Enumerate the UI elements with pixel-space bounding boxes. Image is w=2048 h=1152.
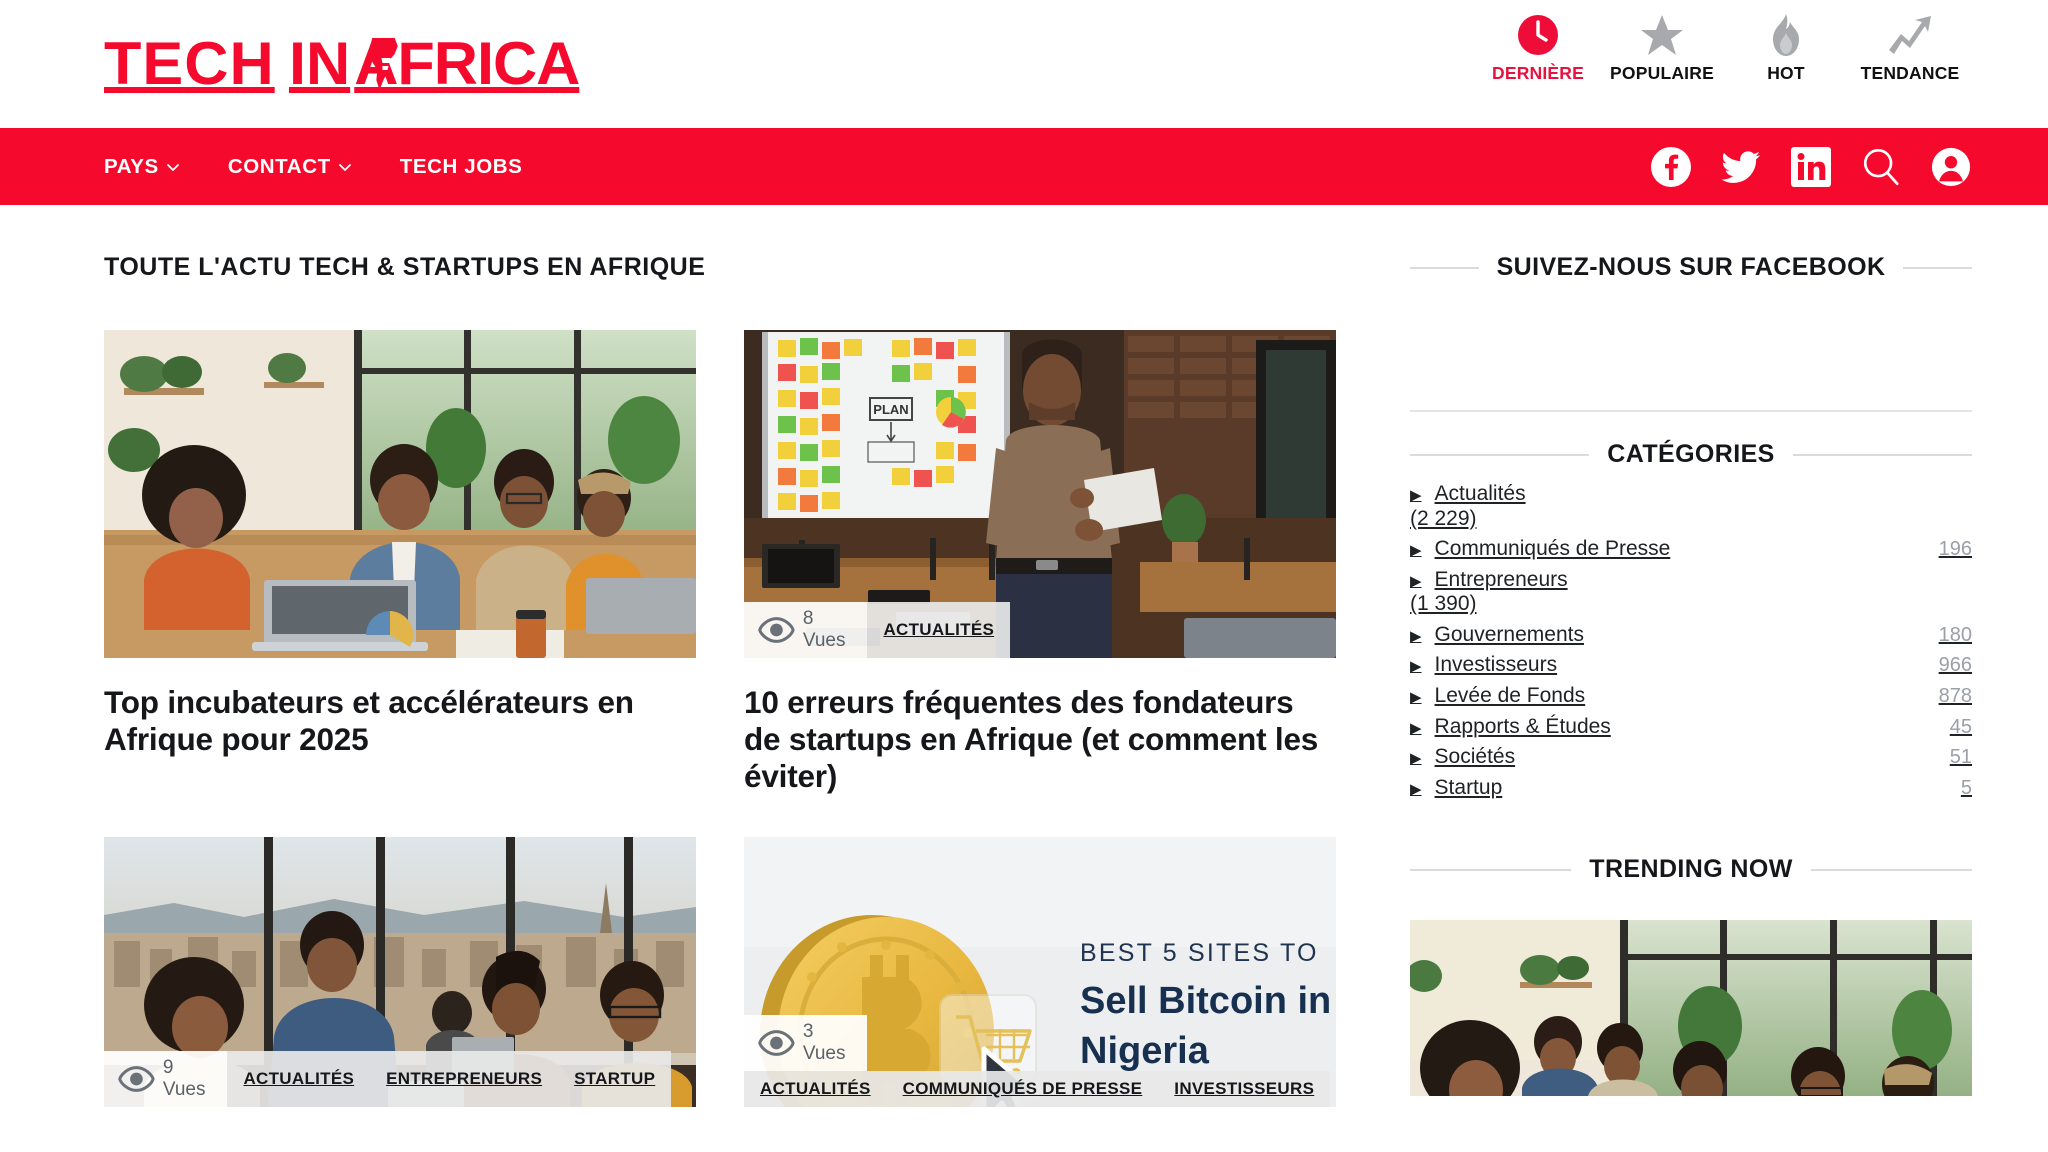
article-card[interactable]: PLAN [744, 330, 1336, 795]
divider-right [1903, 267, 1972, 269]
category-count: 180 [1939, 624, 1972, 647]
twitter-icon[interactable] [1720, 146, 1762, 188]
logo-text-africa: AFRICA [354, 30, 579, 97]
nav-actions [1650, 146, 1972, 188]
article-title[interactable]: Top incubateurs et accélérateurs en Afri… [104, 684, 696, 758]
category-count: 966 [1939, 654, 1972, 677]
view-count-label: 9 Vues [163, 1057, 206, 1101]
widget-facebook: SUIVEZ-NOUS SUR FACEBOOK [1410, 253, 1972, 410]
category-count: 196 [1939, 538, 1972, 561]
chevron-down-icon [166, 160, 180, 174]
article-title[interactable]: 10 erreurs fréquentes des fondateurs de … [744, 684, 1336, 795]
category-badge[interactable]: STARTUP [558, 1051, 671, 1107]
article-card[interactable]: BEST 5 SITES TO Sell Bitcoin in Nigeria … [744, 837, 1336, 1107]
category-item-startup[interactable]: ▶ Startup 5 [1410, 773, 1972, 804]
caret-right-icon: ▶ [1410, 573, 1422, 591]
view-count: 9 Vues [104, 1051, 227, 1107]
category-name: Investisseurs [1435, 653, 1558, 678]
category-count: (1 390) [1410, 592, 1972, 617]
article-card[interactable]: Top incubateurs et accélérateurs en Afri… [104, 330, 696, 795]
sidebar: SUIVEZ-NOUS SUR FACEBOOK CATÉGORIES ▶ Ac… [1410, 253, 1972, 1096]
article-meta: 8 Vues ACTUALITÉS [744, 602, 1010, 658]
divider-left [1410, 454, 1589, 456]
logo-text-tech: TECH [104, 34, 275, 94]
caret-right-icon: ▶ [1410, 658, 1422, 676]
linkedin-icon[interactable] [1790, 146, 1832, 188]
article-categories: ACTUALITÉS [867, 602, 1010, 658]
svg-text:BEST 5 SITES TO: BEST 5 SITES TO [1080, 939, 1319, 967]
page-root: TECH IN AFRICA DERNIÈRE [0, 0, 2048, 1152]
site-logo[interactable]: TECH IN AFRICA [104, 34, 579, 94]
category-item-gouvernements[interactable]: ▶ Gouvernements 180 [1410, 620, 1972, 651]
nav-item-contact[interactable]: CONTACT [228, 155, 352, 179]
header-mode-nav: DERNIÈRE POPULAIRE HOT [1476, 14, 1972, 84]
nav-label: CONTACT [228, 155, 331, 179]
widget-title: CATÉGORIES [1607, 440, 1774, 469]
page-title: TOUTE L'ACTU TECH & STARTUPS EN AFRIQUE [104, 253, 1336, 282]
article-thumbnail[interactable]: PLAN [744, 330, 1336, 658]
caret-right-icon: ▶ [1410, 689, 1422, 707]
category-name: Actualités [1435, 482, 1526, 507]
mode-derniere[interactable]: DERNIÈRE [1476, 14, 1600, 84]
category-count: 45 [1950, 716, 1972, 739]
article-categories: ACTUALITÉS COMMUNIQUÉS DE PRESSE INVESTI… [744, 1071, 1330, 1107]
page-content: TOUTE L'ACTU TECH & STARTUPS EN AFRIQUE [0, 205, 2048, 1149]
widget-header: CATÉGORIES [1410, 440, 1972, 469]
category-count: 878 [1939, 685, 1972, 708]
caret-right-icon: ▶ [1410, 720, 1422, 738]
star-icon [1640, 14, 1684, 56]
widget-title: SUIVEZ-NOUS SUR FACEBOOK [1497, 253, 1886, 282]
category-name: Entrepreneurs [1435, 568, 1568, 593]
category-name: Rapports & Études [1435, 715, 1611, 740]
caret-right-icon: ▶ [1410, 542, 1422, 560]
logo-africa-wrap: AFRICA [354, 34, 579, 94]
divider-left [1410, 267, 1479, 269]
category-badge[interactable]: ENTREPRENEURS [370, 1051, 558, 1107]
mode-hot[interactable]: HOT [1724, 14, 1848, 84]
account-icon[interactable] [1930, 146, 1972, 188]
widget-categories: CATÉGORIES ▶ Actualités (2 229) ▶ Commun… [1410, 410, 1972, 803]
mode-label: DERNIÈRE [1492, 63, 1584, 84]
divider-right [1811, 869, 1972, 871]
article-thumbnail[interactable]: 9 Vues ACTUALITÉS ENTREPRENEURS STARTUP [104, 837, 696, 1107]
svg-text:PLAN: PLAN [873, 402, 908, 417]
logo-text-in: IN [289, 34, 350, 94]
caret-right-icon: ▶ [1410, 628, 1422, 646]
view-count-label: 3 Vues [803, 1021, 846, 1065]
nav-label: TECH JOBS [400, 155, 523, 179]
category-name: Communiqués de Presse [1435, 537, 1671, 562]
category-list: ▶ Actualités (2 229) ▶ Communiqués de Pr… [1410, 479, 1972, 803]
nav-item-pays[interactable]: PAYS [104, 155, 180, 179]
article-thumbnail[interactable] [104, 330, 696, 658]
category-item-levee-de-fonds[interactable]: ▶ Levée de Fonds 878 [1410, 681, 1972, 712]
office-team-laptops-image [104, 330, 696, 658]
article-meta: 9 Vues ACTUALITÉS ENTREPRENEURS STARTUP [104, 1051, 671, 1107]
clock-icon [1517, 14, 1559, 56]
view-count: 8 Vues [744, 602, 867, 658]
facebook-embed-placeholder[interactable] [1410, 282, 1972, 410]
mode-populaire[interactable]: POPULAIRE [1600, 14, 1724, 84]
article-grid: Top incubateurs et accélérateurs en Afri… [104, 330, 1336, 1149]
widget-header: TRENDING NOW [1410, 855, 1972, 884]
category-item-actualites[interactable]: ▶ Actualités (2 229) [1410, 479, 1972, 534]
widget-title: TRENDING NOW [1589, 855, 1792, 884]
category-item-entrepreneurs[interactable]: ▶ Entrepreneurs (1 390) [1410, 565, 1972, 620]
view-count-label: 8 Vues [803, 608, 846, 652]
primary-navbar: PAYS CONTACT TECH JOBS [0, 128, 2048, 205]
mode-label: HOT [1767, 63, 1805, 84]
caret-right-icon: ▶ [1410, 750, 1422, 768]
chevron-down-icon [338, 160, 352, 174]
caret-right-icon: ▶ [1410, 487, 1422, 505]
divider-right [1793, 454, 1972, 456]
trending-thumbnail[interactable] [1410, 920, 1972, 1096]
category-badge[interactable]: ACTUALITÉS [867, 602, 1010, 658]
mode-tendance[interactable]: TENDANCE [1848, 14, 1972, 84]
eye-icon [758, 1021, 795, 1065]
nav-label: PAYS [104, 155, 159, 179]
category-name: Startup [1435, 776, 1503, 801]
caret-right-icon: ▶ [1410, 781, 1422, 799]
search-icon[interactable] [1860, 146, 1902, 188]
category-badge[interactable]: ACTUALITÉS [744, 1071, 887, 1107]
category-count: (2 229) [1410, 507, 1972, 532]
divider-left [1410, 869, 1571, 871]
category-item-communiques-de-presse[interactable]: ▶ Communiqués de Presse 196 [1410, 534, 1972, 565]
category-badge[interactable]: COMMUNIQUÉS DE PRESSE [887, 1071, 1159, 1107]
view-count: 3 Vues [744, 1015, 867, 1071]
article-thumbnail[interactable]: BEST 5 SITES TO Sell Bitcoin in Nigeria … [744, 837, 1336, 1107]
category-item-rapports-etudes[interactable]: ▶ Rapports & Études 45 [1410, 712, 1972, 743]
category-item-societes[interactable]: ▶ Sociétés 51 [1410, 742, 1972, 773]
widget-trending: TRENDING NOW [1410, 855, 1972, 1096]
category-count: 51 [1950, 746, 1972, 769]
widget-header: SUIVEZ-NOUS SUR FACEBOOK [1410, 253, 1972, 282]
site-header: TECH IN AFRICA DERNIÈRE [0, 0, 2048, 128]
main-column: TOUTE L'ACTU TECH & STARTUPS EN AFRIQUE [104, 253, 1336, 1149]
mode-label: TENDANCE [1861, 63, 1960, 84]
article-categories: ACTUALITÉS ENTREPRENEURS STARTUP [227, 1051, 671, 1107]
flame-icon [1769, 14, 1803, 56]
facebook-icon[interactable] [1650, 146, 1692, 188]
eye-icon [758, 608, 795, 652]
office-team-window-plants-image [1410, 920, 1972, 1096]
mode-label: POPULAIRE [1610, 63, 1714, 84]
category-count: 5 [1961, 777, 1972, 800]
nav-links: PAYS CONTACT TECH JOBS [104, 155, 570, 179]
trending-up-icon [1887, 14, 1933, 56]
article-card[interactable]: 9 Vues ACTUALITÉS ENTREPRENEURS STARTUP [104, 837, 696, 1107]
article-meta: 3 Vues ACTUALITÉS COMMUNIQUÉS DE PRESSE … [744, 1015, 1336, 1107]
category-name: Gouvernements [1435, 623, 1584, 648]
eye-icon [118, 1057, 155, 1101]
category-name: Levée de Fonds [1435, 684, 1586, 709]
nav-item-tech-jobs[interactable]: TECH JOBS [400, 155, 523, 179]
category-badge[interactable]: INVESTISSEURS [1158, 1071, 1330, 1107]
category-name: Sociétés [1435, 745, 1516, 770]
category-badge[interactable]: ACTUALITÉS [227, 1051, 370, 1107]
category-item-investisseurs[interactable]: ▶ Investisseurs 966 [1410, 650, 1972, 681]
